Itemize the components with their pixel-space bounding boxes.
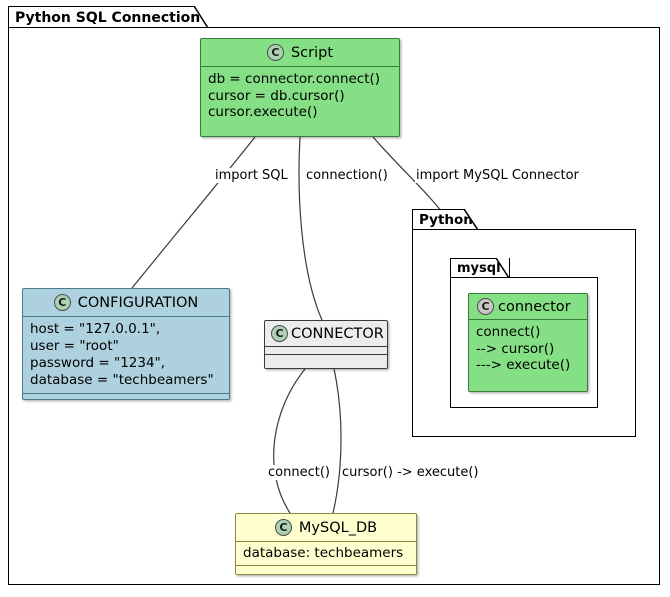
edge-label-cursor-execute: cursor() -> execute() <box>341 465 479 480</box>
class-mysql-db-empty-compartment <box>236 566 416 573</box>
package-tab-python: Python <box>412 209 478 230</box>
class-stereotype-c-icon: C <box>275 519 292 536</box>
package-tab-slant-icon-python <box>464 209 478 229</box>
class-script-attributes: db = connector.connect() cursor = db.cur… <box>201 67 399 126</box>
class-configuration-attributes-bottom: password = "1234", database = "techbeame… <box>23 354 229 393</box>
class-connector-node-empty-compartment-2 <box>265 355 387 362</box>
class-connector-node-empty-compartment-1 <box>265 347 387 354</box>
package-tab-outer: Python SQL Connection <box>8 6 208 28</box>
class-connector-title: connector <box>498 299 571 315</box>
class-connector-header: C connector <box>469 294 587 319</box>
class-connector[interactable]: C connector connect() --> cursor() ---> … <box>468 293 588 392</box>
class-stereotype-c-icon: C <box>54 294 71 311</box>
edge-label-import-mysql-connector: import MySQL Connector <box>415 168 580 183</box>
class-configuration-title: CONFIGURATION <box>78 295 199 311</box>
class-stereotype-c-icon: C <box>477 298 494 315</box>
class-mysql-db-header: C MySQL_DB <box>236 514 416 541</box>
class-mysql-db-title: MySQL_DB <box>299 520 377 536</box>
class-script-header: C Script <box>201 39 399 66</box>
class-connector-node-title: CONNECTOR <box>291 326 384 342</box>
class-configuration-header: C CONFIGURATION <box>23 289 229 316</box>
package-tab-slant-icon-mysql <box>496 258 510 277</box>
package-label-outer: Python SQL Connection <box>15 10 200 26</box>
class-configuration-empty-compartment <box>23 394 229 400</box>
edge-label-import-sql: import SQL <box>214 168 289 183</box>
class-configuration[interactable]: C CONFIGURATION host = "127.0.0.1", user… <box>22 288 230 400</box>
class-script[interactable]: C Script db = connector.connect() cursor… <box>200 38 400 137</box>
diagram-canvas: Python SQL Connection import SQL connect… <box>0 0 670 597</box>
class-script-title: Script <box>291 45 333 61</box>
class-mysql-db[interactable]: C MySQL_DB database: techbeamers <box>235 513 417 575</box>
package-tab-slant-icon <box>194 6 208 27</box>
class-configuration-attributes-top: host = "127.0.0.1", user = "root" <box>23 317 229 354</box>
edge-label-connect: connect() <box>267 465 331 480</box>
class-mysql-db-attributes: database: techbeamers <box>236 542 416 565</box>
class-stereotype-c-icon: C <box>267 44 284 61</box>
package-tab-mysql: mysql <box>450 258 510 278</box>
package-label-mysql: mysql <box>457 261 501 276</box>
class-connector-node-header: C CONNECTOR <box>265 321 387 346</box>
edge-label-connection: connection() <box>305 168 389 183</box>
class-stereotype-c-icon: C <box>271 325 288 342</box>
class-connector-methods: connect() --> cursor() ---> execute() <box>469 320 587 379</box>
class-connector-node[interactable]: C CONNECTOR <box>264 320 388 369</box>
